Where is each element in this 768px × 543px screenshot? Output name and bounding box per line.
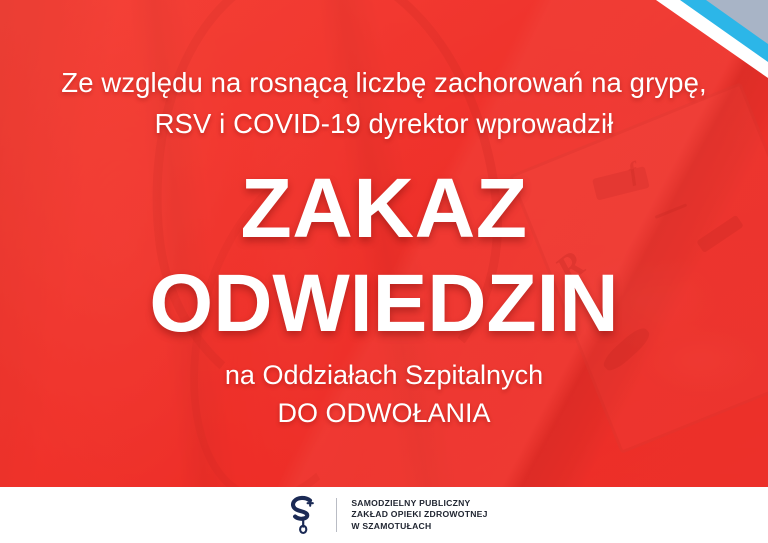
headline-line-1: ZAKAZ [240, 161, 527, 255]
poster-footer: SAMODZIELNY PUBLICZNY ZAKŁAD OPIEKI ZDRO… [0, 487, 768, 543]
lead-line-2: RSV i COVID-19 dyrektor wprowadził [0, 103, 768, 144]
organisation-branding: SAMODZIELNY PUBLICZNY ZAKŁAD OPIEKI ZDRO… [280, 494, 487, 536]
poster-content: Ze względu na rosnącą liczbę zachorowań … [0, 0, 768, 487]
asclepius-serpent-logo-icon [280, 494, 326, 536]
headline-line-2: ODWIEDZIN [0, 256, 768, 352]
poster-banner: R f Ze względu na rosnącą liczbę zachoro… [0, 0, 768, 487]
tail-line-1: na Oddziałach Szpitalnych [0, 356, 768, 394]
headline: ZAKAZ ODWIEDZIN [0, 160, 768, 352]
lead-line-1: Ze względu na rosnącą liczbę zachorowań … [0, 62, 768, 103]
org-line-3: W SZAMOTUŁACH [351, 521, 487, 533]
org-line-2: ZAKŁAD OPIEKI ZDROWOTNEJ [351, 509, 487, 521]
organisation-name: SAMODZIELNY PUBLICZNY ZAKŁAD OPIEKI ZDRO… [351, 498, 487, 533]
org-line-1: SAMODZIELNY PUBLICZNY [351, 498, 487, 510]
lead-paragraph: Ze względu na rosnącą liczbę zachorowań … [0, 62, 768, 144]
poster: R f Ze względu na rosnącą liczbę zachoro… [0, 0, 768, 543]
brand-divider [336, 498, 337, 532]
tail-line-2: DO ODWOŁANIA [0, 394, 768, 432]
tail-paragraph: na Oddziałach Szpitalnych DO ODWOŁANIA [0, 356, 768, 432]
